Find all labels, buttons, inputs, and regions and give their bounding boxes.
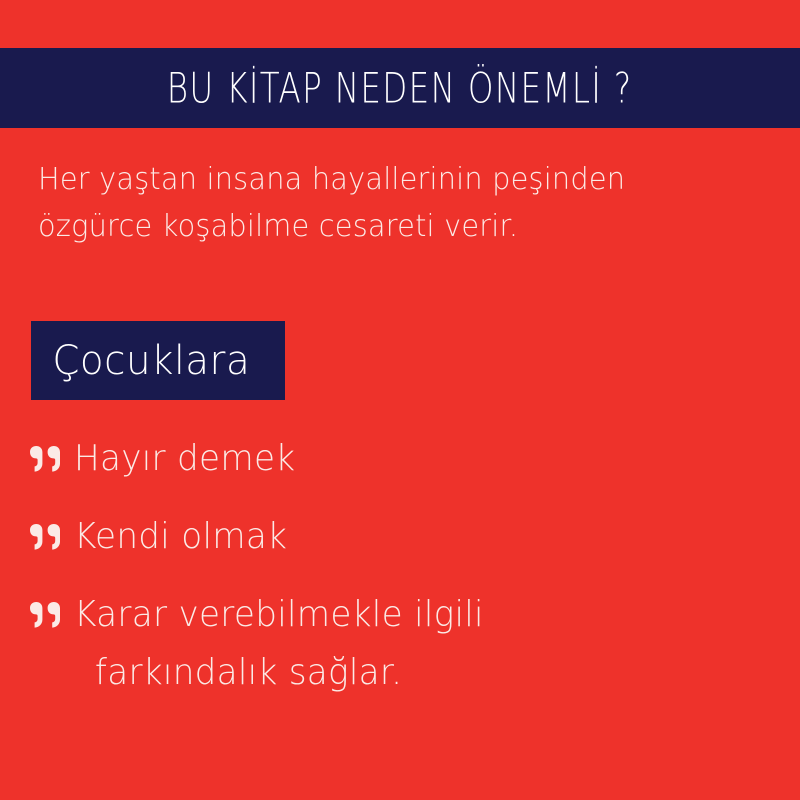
intro-line-1: Her yaştan insana hayallerinin peşinden [38, 156, 672, 203]
header-band: BU KİTAP NEDEN ÖNEMLİ ? [0, 48, 800, 128]
list-item-text: Kendi olmak [74, 508, 287, 566]
list-item-line-2: farkındalık sağlar. [74, 644, 484, 702]
intro-paragraph: Her yaştan insana hayallerinin peşinden … [38, 156, 672, 250]
list-item: Hayır demek [28, 430, 758, 488]
poster-canvas: BU KİTAP NEDEN ÖNEMLİ ? Her yaştan insan… [0, 0, 800, 800]
category-badge: Çocuklara [31, 321, 285, 400]
list-item-text: Karar verebilmekle ilgili farkındalık sa… [74, 586, 484, 702]
double-quote-bullet-icon [28, 524, 64, 550]
list-item-text: Hayır demek [74, 430, 295, 488]
list-item: Karar verebilmekle ilgili farkındalık sa… [28, 586, 758, 702]
page-title: BU KİTAP NEDEN ÖNEMLİ ? [167, 67, 633, 108]
benefits-list: Hayır demek Kendi olmak Ka [28, 430, 758, 722]
double-quote-bullet-icon [28, 446, 64, 472]
list-item: Kendi olmak [28, 508, 758, 566]
intro-line-2: özgürce koşabilme cesareti verir. [38, 203, 672, 250]
list-item-line-1: Hayır demek [74, 430, 295, 488]
double-quote-bullet-icon [28, 602, 64, 628]
list-item-line-1: Kendi olmak [74, 508, 287, 566]
category-badge-label: Çocuklara [31, 341, 250, 381]
list-item-line-1: Karar verebilmekle ilgili [74, 586, 484, 644]
